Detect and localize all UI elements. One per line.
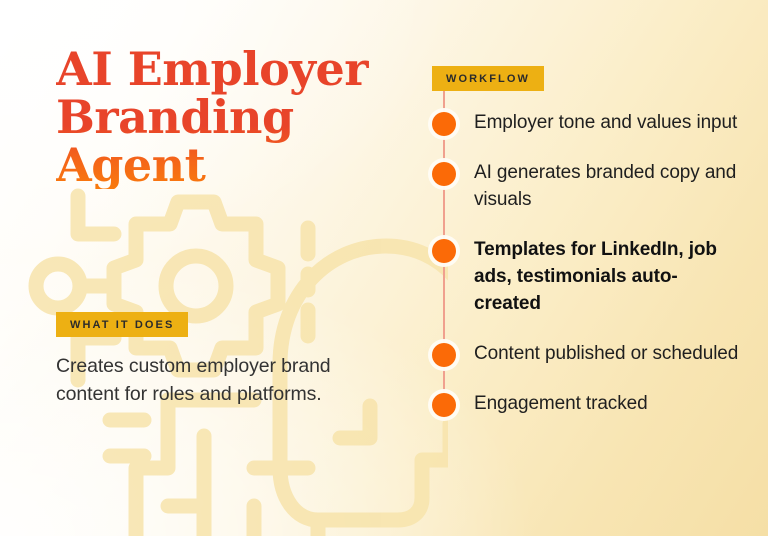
step-bullet-dot (432, 343, 456, 367)
what-it-does-badge: WHAT IT DOES (56, 312, 188, 337)
workflow-step: AI generates branded copy and visuals (432, 159, 742, 214)
page-title: AI Employer Branding Agent (56, 46, 396, 189)
left-column: AI Employer Branding Agent (56, 46, 396, 189)
step-bullet-dot (432, 112, 456, 136)
workflow-step-label: Engagement tracked (474, 390, 648, 418)
workflow-step: Templates for LinkedIn, job ads, testimo… (432, 236, 742, 318)
workflow-timeline: Employer tone and values input AI genera… (432, 91, 742, 418)
step-bullet-dot (432, 162, 456, 186)
workflow-step-label: Employer tone and values input (474, 109, 737, 137)
workflow-badge: WORKFLOW (432, 66, 544, 91)
step-bullet-dot (432, 393, 456, 417)
workflow-step: Content published or scheduled (432, 340, 742, 368)
workflow-step-label-highlighted: Templates for LinkedIn, job ads, testimo… (474, 236, 742, 318)
what-it-does-description: Creates custom employer brand content fo… (56, 353, 386, 408)
what-it-does-section: WHAT IT DOES Creates custom employer bra… (56, 312, 386, 408)
workflow-step-label: AI generates branded copy and visuals (474, 159, 742, 214)
workflow-step: Engagement tracked (432, 390, 742, 418)
infographic-card: AI Employer Branding Agent WHAT IT DOES … (0, 0, 768, 536)
right-column: WORKFLOW Employer tone and values input … (432, 66, 742, 418)
step-bullet-dot (432, 239, 456, 263)
workflow-step: Employer tone and values input (432, 109, 742, 137)
workflow-step-label: Content published or scheduled (474, 340, 738, 368)
